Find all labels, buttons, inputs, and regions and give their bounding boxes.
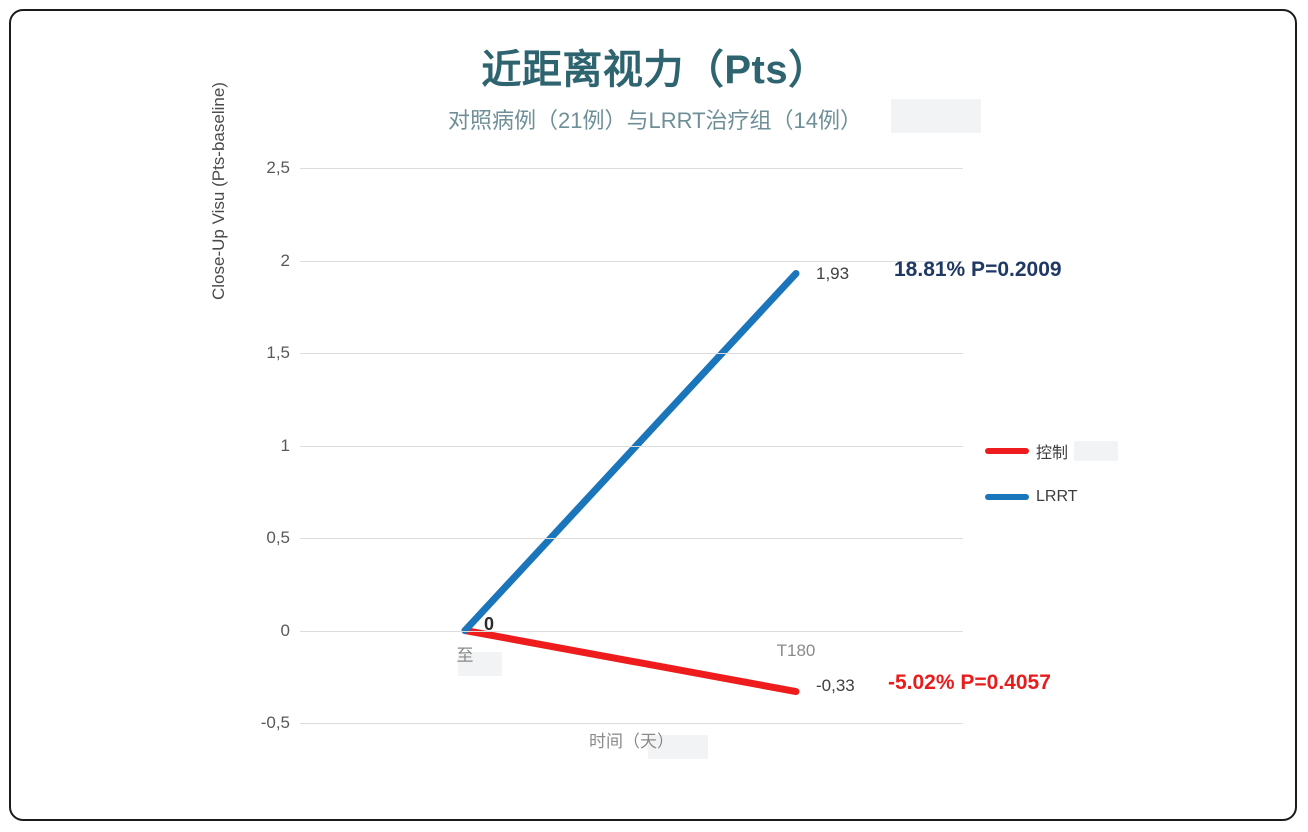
annotation-control: -5.02% P=0.4057 xyxy=(888,671,1051,695)
legend-item-control[interactable]: 控制 xyxy=(985,428,1165,474)
plot-area xyxy=(300,168,963,723)
legend-swatch-lrrt xyxy=(985,494,1029,500)
chart-legend: 控制 LRRT xyxy=(985,428,1165,520)
point-label-origin: 0 xyxy=(484,614,494,635)
gridline xyxy=(300,723,963,724)
point-label-control-end: -0,33 xyxy=(816,676,855,696)
point-label-lrrt-end: 1,93 xyxy=(816,264,849,284)
gridline xyxy=(300,446,963,447)
y-tick-label: 1 xyxy=(230,436,290,456)
y-tick-label: 0,5 xyxy=(230,528,290,548)
legend-label-lrrt: LRRT xyxy=(1036,488,1078,506)
y-tick-label: -0,5 xyxy=(230,713,290,733)
y-tick-label: 2 xyxy=(230,251,290,271)
legend-item-lrrt[interactable]: LRRT xyxy=(985,474,1165,520)
y-axis-tick-labels: -0,500,511,522,5 xyxy=(220,168,290,723)
x-tick-label-0: 至 xyxy=(457,641,474,666)
y-tick-label: 0 xyxy=(230,621,290,641)
y-axis-title: Close-Up Visu (Pts-baseline) xyxy=(209,82,229,300)
legend-label-control: 控制 xyxy=(1036,439,1068,463)
gridline xyxy=(300,538,963,539)
blur-smudge-subtitle xyxy=(891,99,981,133)
gridline xyxy=(300,168,963,169)
gridline xyxy=(300,261,963,262)
annotation-lrrt: 18.81% P=0.2009 xyxy=(894,258,1062,282)
x-tick-label-1: T180 xyxy=(777,641,816,661)
line-control xyxy=(465,631,796,692)
line-lrrt xyxy=(465,273,796,630)
gridline xyxy=(300,353,963,354)
chart-title: 近距离视力（Pts） xyxy=(11,37,1299,95)
x-axis-title: 时间（天） xyxy=(300,727,963,752)
y-tick-label: 1,5 xyxy=(230,343,290,363)
chart-subtitle: 对照病例（21例）与LRRT治疗组（14例） xyxy=(11,103,1299,135)
legend-swatch-control xyxy=(985,448,1029,454)
gridline xyxy=(300,631,963,632)
y-tick-label: 2,5 xyxy=(230,158,290,178)
